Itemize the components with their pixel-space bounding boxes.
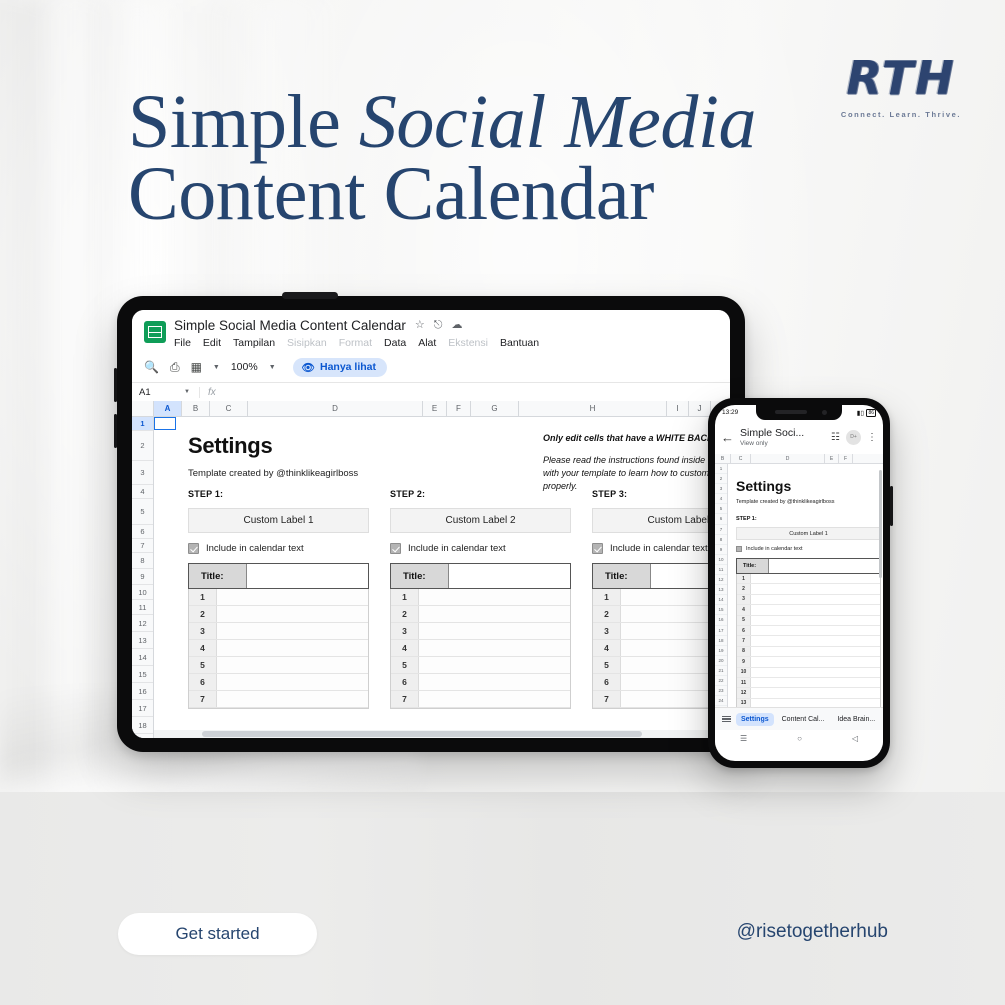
phone-sheet-tab-idea-brain-[interactable]: Idea Brain... (832, 713, 880, 726)
social-handle: @risetogetherhub (737, 921, 888, 943)
column-header-A[interactable]: A (154, 401, 182, 416)
list-number: 3 (391, 623, 419, 639)
tablet-device: Simple Social Media Content Calendar ☆ ⎋… (117, 296, 745, 752)
list-item[interactable]: 4 (189, 640, 368, 657)
row-headers[interactable]: 123456789101112131415161718 (132, 417, 154, 738)
phone-list-item[interactable]: 6 (737, 626, 880, 636)
signal-icon: ▮▯ (857, 409, 864, 417)
phone-list-item[interactable]: 13 (737, 699, 880, 707)
row-header-1[interactable]: 1 (132, 417, 153, 431)
headline-line2: Content Calendar (128, 152, 654, 236)
list-value[interactable] (419, 589, 570, 605)
row-header-8[interactable]: 8 (132, 553, 153, 569)
phone-list-item[interactable]: 2 (737, 584, 880, 594)
phone-sheet-tab-settings[interactable]: Settings (736, 713, 774, 726)
menu-item-file[interactable]: File (174, 337, 191, 349)
sheets-title-area: Simple Social Media Content Calendar ☆ ⎋… (174, 315, 730, 352)
row-header-4[interactable]: 4 (132, 485, 153, 499)
phone-device: 13:29 ▮▯ 86 ← Simple Soci... View only ☷… (708, 398, 890, 768)
row-header-14[interactable]: 14 (132, 649, 153, 666)
phone-list-number: 1 (737, 574, 751, 583)
list-value[interactable] (217, 691, 368, 707)
more-vertical-icon[interactable]: ⋮ (867, 432, 877, 443)
list-number: 2 (593, 606, 621, 622)
phone-column-header-D[interactable]: D (751, 454, 825, 463)
list-number: 2 (391, 606, 419, 622)
custom-label-input-1[interactable]: Custom Label 1 (188, 508, 369, 533)
title-label-3: Title: (593, 564, 651, 588)
phone-list-item[interactable]: 12 (737, 688, 880, 698)
phone-row-header-18[interactable]: 18 (715, 636, 727, 646)
settings-notes: Only edit cells that have a WHITE BACKGR… (543, 433, 730, 493)
row-header-11[interactable]: 11 (132, 600, 153, 615)
select-all-corner[interactable] (132, 401, 154, 416)
list-value[interactable] (217, 640, 368, 656)
column-header-I[interactable]: I (667, 401, 689, 416)
list-value[interactable] (419, 606, 570, 622)
row-header-7[interactable]: 7 (132, 539, 153, 553)
list-number: 5 (593, 657, 621, 673)
list-item[interactable]: 1 (391, 589, 570, 606)
phone-row-header-23[interactable]: 23 (715, 686, 727, 696)
list-number: 4 (189, 640, 217, 656)
phone-row-header-6[interactable]: 6 (715, 514, 727, 524)
phone-row-header-8[interactable]: 8 (715, 535, 727, 545)
column-header-E[interactable]: E (423, 401, 447, 416)
include-checkbox-row-2[interactable]: Include in calendar text (390, 543, 571, 554)
list-item[interactable]: 7 (391, 691, 570, 708)
home-icon[interactable]: ○ (797, 734, 802, 743)
eye-icon: 👁 (302, 361, 315, 374)
horizontal-scrollbar[interactable] (154, 730, 722, 738)
phone-list-item[interactable]: 8 (737, 647, 880, 657)
column-header-C[interactable]: C (210, 401, 248, 416)
title-input-2[interactable] (449, 564, 570, 588)
include-checkbox-1[interactable] (188, 543, 199, 554)
brand-logo: RTH Connect. Learn. Thrive. (826, 55, 976, 125)
phone-list-number: 5 (737, 616, 751, 625)
column-header-F[interactable]: F (447, 401, 471, 416)
list-item[interactable]: 2 (189, 606, 368, 623)
phone-doc-title: Simple Soci... (740, 427, 825, 439)
status-time: 13:29 (722, 409, 738, 416)
list-item[interactable]: 2 (391, 606, 570, 623)
numbered-list-1: 1234567 (188, 589, 369, 709)
phone-list-item[interactable]: 10 (737, 668, 880, 678)
logo-wordmark: RTH (826, 55, 976, 101)
back-nav-icon[interactable]: ◁ (852, 734, 858, 743)
title-label-2: Title: (391, 564, 449, 588)
back-arrow-icon[interactable]: ← (721, 430, 734, 445)
list-number: 7 (189, 691, 217, 707)
phone-row-header-20[interactable]: 20 (715, 656, 727, 666)
background-lower (0, 792, 1005, 1005)
phone-row-header-17[interactable]: 17 (715, 626, 727, 636)
list-number: 4 (391, 640, 419, 656)
sheets-header: Simple Social Media Content Calendar ☆ ⎋… (132, 310, 730, 352)
tablet-camera (282, 292, 338, 299)
list-item[interactable]: 6 (189, 674, 368, 691)
formula-bar: A1 ▼ fx (132, 382, 730, 401)
phone-row-header-22[interactable]: 22 (715, 676, 727, 686)
list-number: 4 (593, 640, 621, 656)
phone-column-header-F[interactable]: F (839, 454, 853, 463)
view-only-label: Hanya lihat (320, 361, 376, 373)
phone-vertical-scroll-thumb[interactable] (879, 470, 882, 578)
phone-screen: 13:29 ▮▯ 86 ← Simple Soci... View only ☷… (715, 405, 883, 761)
include-checkbox-row-1[interactable]: Include in calendar text (188, 543, 369, 554)
settings-document: Settings Template created by @thinklikea… (188, 433, 730, 479)
phone-list-number: 13 (737, 699, 751, 707)
list-number: 6 (391, 674, 419, 690)
paint-format-icon[interactable]: ▦ (191, 361, 202, 373)
list-number: 7 (593, 691, 621, 707)
include-checkbox-3[interactable] (592, 543, 603, 554)
logo-tagline: Connect. Learn. Thrive. (826, 110, 976, 119)
menu-icon[interactable]: ☰ (740, 734, 747, 743)
title-box-2: Title: (390, 563, 571, 589)
phone-list-number: 2 (737, 584, 751, 593)
phone-checkbox-label: Include in calendar text (746, 546, 803, 552)
phone-title-box: Title: (736, 558, 881, 574)
list-number: 5 (391, 657, 419, 673)
phone-row-header-14[interactable]: 14 (715, 595, 727, 605)
list-item[interactable]: 5 (189, 657, 368, 674)
phone-row-header-12[interactable]: 12 (715, 575, 727, 585)
list-value[interactable] (419, 657, 570, 673)
menu-item-tampilan[interactable]: Tampilan (233, 337, 275, 349)
sheets-app-icon (144, 321, 166, 343)
phone-row-header-21[interactable]: 21 (715, 666, 727, 676)
step-label-1: STEP 1: (188, 489, 369, 499)
get-started-button[interactable]: Get started (118, 913, 317, 955)
row-header-13[interactable]: 13 (132, 632, 153, 649)
row-header-5[interactable]: 5 (132, 499, 153, 525)
phone-row-header-19[interactable]: 19 (715, 646, 727, 656)
phone-list-number: 3 (737, 595, 751, 604)
tablet-volume-up-button[interactable] (114, 368, 117, 402)
list-value[interactable] (217, 674, 368, 690)
list-value[interactable] (217, 589, 368, 605)
zoom-value[interactable]: 100% (231, 361, 258, 373)
phone-nav-bar[interactable]: ☰○◁ (715, 730, 883, 747)
phone-step-label: STEP 1: (736, 516, 881, 522)
title-input-1[interactable] (247, 564, 368, 588)
menu-item-bantuan[interactable]: Bantuan (500, 337, 539, 349)
document-title[interactable]: Simple Social Media Content Calendar (174, 318, 406, 333)
phone-row-header-10[interactable]: 10 (715, 555, 727, 565)
row-header-2[interactable]: 2 (132, 431, 153, 461)
phone-list-number: 8 (737, 647, 751, 656)
comment-icon[interactable]: ☷ (831, 432, 840, 443)
row-header-9[interactable]: 9 (132, 569, 153, 585)
steps-container: STEP 1:Custom Label 1Include in calendar… (188, 489, 730, 709)
list-item[interactable]: 4 (391, 640, 570, 657)
list-value[interactable] (419, 674, 570, 690)
phone-list-number: 11 (737, 678, 751, 687)
row-header-17[interactable]: 17 (132, 700, 153, 717)
phone-sheet-tab-content-cal-[interactable]: Content Cal... (777, 713, 830, 726)
spreadsheet-grid: ABCDEFGHIJKL 123456789101112131415161718… (132, 401, 730, 738)
phone-numbered-list: 12345678910111213 (736, 574, 881, 707)
phone-custom-label[interactable]: Custom Label 1 (736, 527, 881, 540)
phone-list-item[interactable]: 5 (737, 616, 880, 626)
list-number: 2 (189, 606, 217, 622)
list-number: 1 (391, 589, 419, 605)
phone-row-header-2[interactable]: 2 (715, 474, 727, 484)
row-header-15[interactable]: 15 (132, 666, 153, 683)
row-header-12[interactable]: 12 (132, 615, 153, 632)
paint-caret-icon[interactable]: ▼ (213, 364, 220, 371)
list-value[interactable] (217, 623, 368, 639)
step-label-2: STEP 2: (390, 489, 571, 499)
menu-item-data[interactable]: Data (384, 337, 406, 349)
list-item[interactable]: 7 (189, 691, 368, 708)
phone-row-header-24[interactable]: 24 (715, 696, 727, 706)
phone-settings-byline: Template created by @thinklikeagirlboss (736, 499, 881, 505)
title-label-1: Title: (189, 564, 247, 588)
numbered-list-2: 1234567 (390, 589, 571, 709)
list-item[interactable]: 3 (189, 623, 368, 640)
fx-label: fx (199, 387, 224, 398)
phone-row-header-1[interactable]: 1 (715, 464, 727, 474)
step-column-2: STEP 2:Custom Label 2Include in calendar… (390, 489, 571, 709)
row-header-16[interactable]: 16 (132, 683, 153, 700)
row-header-3[interactable]: 3 (132, 461, 153, 485)
list-number: 3 (189, 623, 217, 639)
cell-reference[interactable]: A1 (132, 387, 184, 398)
phone-list-item[interactable]: 9 (737, 657, 880, 667)
phone-list-number: 7 (737, 636, 751, 645)
phone-row-header-16[interactable]: 16 (715, 615, 727, 625)
phone-list-item[interactable]: 4 (737, 605, 880, 615)
menu-bar[interactable]: FileEditTampilanSisipkanFormatDataAlatEk… (174, 337, 730, 349)
list-value[interactable] (217, 606, 368, 622)
battery-icon: 86 (866, 409, 876, 417)
list-item[interactable]: 3 (391, 623, 570, 640)
title-box-1: Title: (188, 563, 369, 589)
menu-item-ekstensi[interactable]: Ekstensi (448, 337, 488, 349)
list-value[interactable] (419, 640, 570, 656)
phone-row-headers[interactable]: 123456789101112131415161718192021222324 (715, 464, 728, 707)
step-column-1: STEP 1:Custom Label 1Include in calendar… (188, 489, 369, 709)
list-value[interactable] (217, 657, 368, 673)
menu-item-edit[interactable]: Edit (203, 337, 221, 349)
include-checkbox-label-3: Include in calendar text (610, 543, 708, 554)
phone-settings-document: Settings Template created by @thinklikea… (736, 478, 881, 707)
phone-row-header-7[interactable]: 7 (715, 525, 727, 535)
row-header-6[interactable]: 6 (132, 525, 153, 539)
horizontal-scroll-thumb[interactable] (202, 731, 642, 737)
list-value[interactable] (419, 623, 570, 639)
phone-list-item[interactable]: 11 (737, 678, 880, 688)
phone-list-number: 12 (737, 688, 751, 697)
list-item[interactable]: 6 (391, 674, 570, 691)
phone-row-header-3[interactable]: 3 (715, 484, 727, 494)
menu-item-alat[interactable]: Alat (418, 337, 436, 349)
view-only-badge[interactable]: 👁 Hanya lihat (293, 358, 387, 377)
list-number: 6 (189, 674, 217, 690)
move-icon[interactable]: ⎋ (434, 320, 443, 331)
custom-label-input-2[interactable]: Custom Label 2 (390, 508, 571, 533)
tablet-screen: Simple Social Media Content Calendar ☆ ⎋… (132, 310, 730, 738)
sheets-toolbar: 🔍 ⎙ ▦ ▼ 100% ▼ 👁 Hanya lihat (132, 352, 730, 382)
list-number: 5 (189, 657, 217, 673)
list-value[interactable] (419, 691, 570, 707)
search-icon[interactable]: 🔍 (144, 361, 159, 373)
include-checkbox-label-2: Include in calendar text (408, 543, 506, 554)
list-number: 1 (593, 589, 621, 605)
phone-row-header-9[interactable]: 9 (715, 545, 727, 555)
phone-title-label: Title: (737, 559, 769, 573)
phone-sheet-content[interactable]: Settings Template created by @thinklikea… (728, 464, 883, 707)
star-icon[interactable]: ☆ (415, 320, 425, 331)
phone-row-header-5[interactable]: 5 (715, 504, 727, 514)
list-number: 3 (593, 623, 621, 639)
column-header-B[interactable]: B (182, 401, 210, 416)
column-header-D[interactable]: D (248, 401, 423, 416)
phone-title-area[interactable]: Simple Soci... View only (740, 427, 825, 447)
column-header-H[interactable]: H (519, 401, 667, 416)
page-title: Simple Social Media Content Calendar (128, 86, 828, 230)
phone-column-headers[interactable]: BCDEF (715, 454, 883, 464)
row-header-10[interactable]: 10 (132, 585, 153, 600)
tablet-volume-down-button[interactable] (114, 414, 117, 448)
print-icon[interactable]: ⎙ (170, 361, 180, 373)
cloud-icon[interactable]: ☁ (451, 320, 462, 331)
include-checkbox-label-1: Include in calendar text (206, 543, 304, 554)
phone-all-sheets-icon[interactable] (719, 716, 733, 723)
poster-canvas: RTH Connect. Learn. Thrive. Simple Socia… (0, 0, 1005, 1005)
column-header-J[interactable]: J (689, 401, 711, 416)
menu-item-format[interactable]: Format (339, 337, 372, 349)
phone-grid: 123456789101112131415161718192021222324 … (715, 464, 883, 707)
phone-row-header-15[interactable]: 15 (715, 605, 727, 615)
phone-column-header-B[interactable]: B (715, 454, 731, 463)
phone-row-header-13[interactable]: 13 (715, 585, 727, 595)
phone-list-number: 4 (737, 605, 751, 614)
list-item[interactable]: 5 (391, 657, 570, 674)
list-number: 1 (189, 589, 217, 605)
phone-list-number: 6 (737, 626, 751, 635)
phone-list-number: 10 (737, 668, 751, 677)
zoom-caret-icon[interactable]: ▼ (269, 364, 276, 371)
phone-row-header-11[interactable]: 11 (715, 565, 727, 575)
phone-list-item[interactable]: 1 (737, 574, 880, 584)
sheet-content[interactable]: Settings Template created by @thinklikea… (154, 417, 730, 738)
phone-list-number: 9 (737, 657, 751, 666)
phone-power-button[interactable] (890, 486, 893, 526)
phone-column-header-E[interactable]: E (825, 454, 839, 463)
phone-list-item[interactable]: 7 (737, 636, 880, 646)
phone-doc-subtitle: View only (740, 440, 825, 447)
phone-column-header-C[interactable]: C (731, 454, 751, 463)
column-headers[interactable]: ABCDEFGHIJKL (132, 401, 730, 417)
column-header-G[interactable]: G (471, 401, 519, 416)
row-header-18[interactable]: 18 (132, 717, 153, 734)
phone-notch (756, 405, 842, 420)
list-number: 7 (391, 691, 419, 707)
name-box-caret-icon[interactable]: ▼ (184, 389, 190, 395)
phone-settings-heading: Settings (736, 478, 881, 494)
include-checkbox-2[interactable] (390, 543, 401, 554)
avatar[interactable]: D+ (846, 430, 861, 445)
phone-checkbox-row[interactable]: Include in calendar text (736, 546, 881, 552)
list-number: 6 (593, 674, 621, 690)
menu-item-sisipkan[interactable]: Sisipkan (287, 337, 327, 349)
phone-row-header-4[interactable]: 4 (715, 494, 727, 504)
instructions-text: Please read the instructions found insid… (543, 454, 730, 493)
phone-app-header: ← Simple Soci... View only ☷ D+ ⋮ (715, 420, 883, 454)
active-cell-a1[interactable] (154, 417, 176, 430)
list-item[interactable]: 1 (189, 589, 368, 606)
phone-list-item[interactable]: 3 (737, 595, 880, 605)
phone-checkbox-icon[interactable] (736, 546, 742, 552)
phone-sheet-tabs: SettingsContent Cal...Idea Brain... (715, 707, 883, 730)
warning-text: Only edit cells that have a WHITE BACKGR… (543, 433, 730, 443)
